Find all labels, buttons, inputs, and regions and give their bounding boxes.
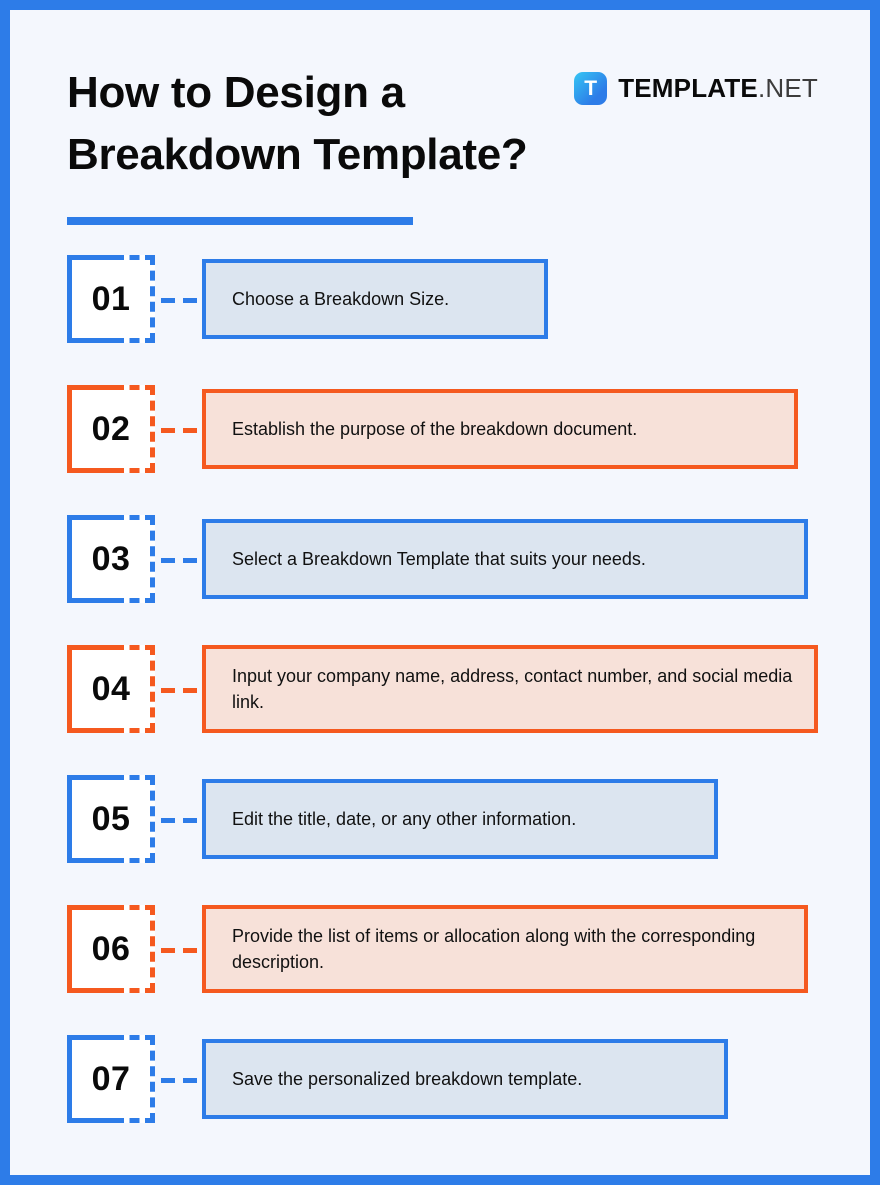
infographic-page: How to Design a Breakdown Template? T TE… — [10, 10, 870, 1175]
step-text-label: Save the personalized breakdown template… — [232, 1066, 582, 1092]
step-number-box: 06 — [67, 905, 155, 993]
step-text-label: Provide the list of items or allocation … — [232, 923, 786, 975]
step-number-label: 04 — [67, 645, 155, 733]
template-net-logo[interactable]: T TEMPLATE.NET — [574, 72, 818, 105]
step-text-box: Provide the list of items or allocation … — [202, 905, 808, 993]
step-text-label: Input your company name, address, contac… — [232, 663, 796, 715]
step-row: 05Edit the title, date, or any other inf… — [10, 775, 870, 863]
step-connector-line — [161, 688, 202, 693]
step-connector-line — [161, 558, 202, 563]
logo-brand-text: TEMPLATE — [618, 73, 758, 103]
step-number-box: 01 — [67, 255, 155, 343]
step-number-label: 01 — [67, 255, 155, 343]
step-text-box: Select a Breakdown Template that suits y… — [202, 519, 808, 599]
step-row: 03Select a Breakdown Template that suits… — [10, 515, 870, 603]
step-text-box: Choose a Breakdown Size. — [202, 259, 548, 339]
step-row: 04Input your company name, address, cont… — [10, 645, 870, 733]
step-row: 06Provide the list of items or allocatio… — [10, 905, 870, 993]
step-number-box: 02 — [67, 385, 155, 473]
page-title: How to Design a Breakdown Template? — [67, 62, 587, 187]
logo-tld-text: .NET — [758, 73, 818, 103]
logo-letter-t: T — [574, 72, 607, 105]
step-number-box: 05 — [67, 775, 155, 863]
page-title-line-2: Breakdown Template? — [67, 124, 587, 186]
logo-wordmark: TEMPLATE.NET — [618, 73, 818, 104]
step-text-box: Input your company name, address, contac… — [202, 645, 818, 733]
step-number-box: 07 — [67, 1035, 155, 1123]
step-connector-line — [161, 948, 202, 953]
step-number-label: 03 — [67, 515, 155, 603]
step-connector-line — [161, 298, 202, 303]
title-underline-rule — [67, 217, 413, 225]
header: How to Design a Breakdown Template? T TE… — [10, 10, 870, 240]
step-row: 02Establish the purpose of the breakdown… — [10, 385, 870, 473]
steps-list: 01Choose a Breakdown Size.02Establish th… — [10, 255, 870, 1123]
page-title-line-1: How to Design a — [67, 62, 587, 124]
step-number-label: 06 — [67, 905, 155, 993]
step-number-label: 07 — [67, 1035, 155, 1123]
step-text-label: Establish the purpose of the breakdown d… — [232, 416, 637, 442]
step-text-box: Edit the title, date, or any other infor… — [202, 779, 718, 859]
step-number-box: 04 — [67, 645, 155, 733]
step-connector-line — [161, 818, 202, 823]
step-text-box: Save the personalized breakdown template… — [202, 1039, 728, 1119]
step-text-label: Choose a Breakdown Size. — [232, 286, 449, 312]
step-text-box: Establish the purpose of the breakdown d… — [202, 389, 798, 469]
step-number-box: 03 — [67, 515, 155, 603]
step-connector-line — [161, 428, 202, 433]
step-text-label: Edit the title, date, or any other infor… — [232, 806, 576, 832]
template-logo-icon: T — [574, 72, 607, 105]
step-row: 01Choose a Breakdown Size. — [10, 255, 870, 343]
step-number-label: 02 — [67, 385, 155, 473]
step-row: 07Save the personalized breakdown templa… — [10, 1035, 870, 1123]
step-text-label: Select a Breakdown Template that suits y… — [232, 546, 646, 572]
step-connector-line — [161, 1078, 202, 1083]
step-number-label: 05 — [67, 775, 155, 863]
